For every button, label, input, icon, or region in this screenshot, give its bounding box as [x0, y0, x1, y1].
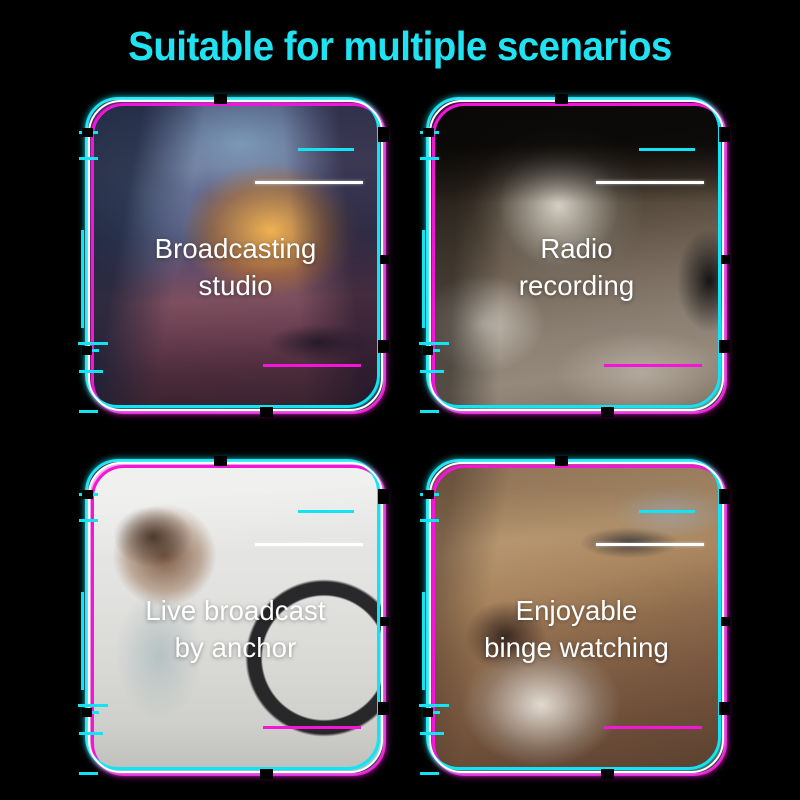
accent-bar-left-vertical: [81, 592, 84, 690]
scenario-image-radio-recording: [429, 100, 724, 411]
scenario-card-enjoyable-binge-watching[interactable]: Enjoyable binge watching: [429, 462, 724, 773]
scenario-card-radio-recording[interactable]: Radio recording: [429, 100, 724, 411]
accent-bar-left-vertical: [422, 230, 425, 328]
photo-live-anchor: [88, 462, 383, 773]
photo-radio-recording: [429, 100, 724, 411]
scenario-image-binge-watching: [429, 462, 724, 773]
scenario-grid: Broadcasting studio: [88, 100, 724, 773]
scenario-card-broadcasting-studio[interactable]: Broadcasting studio: [88, 100, 383, 411]
scenario-card-live-broadcast-by-anchor[interactable]: Live broadcast by anchor: [88, 462, 383, 773]
page-title: Suitable for multiple scenarios: [24, 18, 776, 74]
accent-bar-left-vertical: [81, 230, 84, 328]
scenario-image-live-broadcast: [88, 462, 383, 773]
photo-broadcast-studio: [88, 100, 383, 411]
scenario-image-broadcasting-studio: [88, 100, 383, 411]
photo-binge-watching: [429, 462, 724, 773]
accent-bar-left-vertical: [422, 592, 425, 690]
